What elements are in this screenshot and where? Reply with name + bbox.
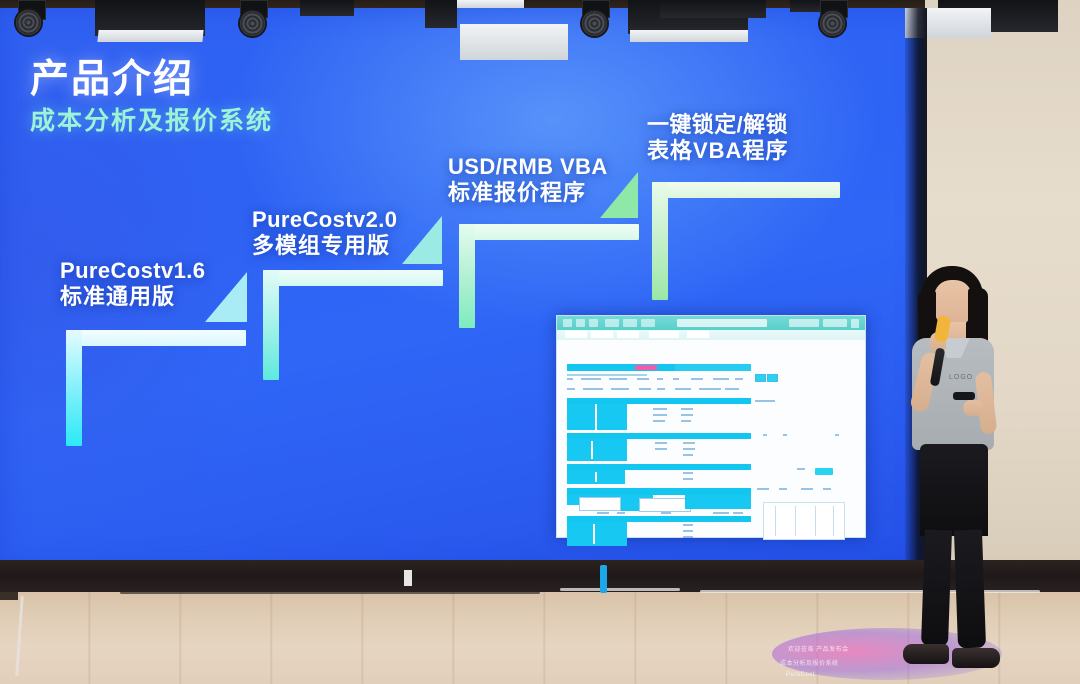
stage-light-lens-icon: [818, 9, 847, 38]
floor-cable: [700, 590, 1040, 593]
step-shape-1: [66, 330, 246, 446]
step-label-2-line1: PureCostv2.0: [252, 207, 397, 233]
step-shape-2: [263, 270, 443, 380]
step-arrow-1: [205, 272, 247, 322]
spreadsheet-toolbar: [557, 330, 865, 340]
presenter-clicker: [953, 392, 975, 400]
step-arrow-2: [402, 216, 442, 264]
step-label-1-line1: PureCostv1.6: [60, 258, 205, 284]
shirt-logo: LOGO: [949, 374, 973, 381]
step-label-3-line2: 标准报价程序: [448, 180, 608, 206]
spreadsheet-screenshot: [556, 315, 866, 538]
step-label-4-line1: 一键锁定/解锁: [647, 112, 788, 138]
floor-cable: [120, 591, 540, 594]
stage-light-lens-icon: [238, 9, 267, 38]
step-label-1-line2: 标准通用版: [60, 284, 205, 310]
presentation-photo: 产品介绍 成本分析及报价系统 PureCostv1.6 标准通用版 PureCo…: [0, 0, 1080, 684]
step-label-2-line2: 多模组专用版: [252, 233, 397, 259]
presenter-jeans: [920, 444, 988, 536]
step-label-1: PureCostv1.6 标准通用版: [60, 258, 205, 310]
floor-cable: [560, 588, 680, 591]
stage-light-lens-icon: [580, 9, 609, 38]
slide-subtitle: 成本分析及报价系统: [30, 101, 273, 137]
presenter-shoe-left: [903, 644, 949, 664]
floor-projection-line-3: PureCost: [786, 672, 815, 678]
floor-object: [404, 570, 412, 586]
floor-projection-line-2: 成本分析及报价系统: [780, 658, 839, 667]
floor-projection-line-1: 欢迎莅临 产品发布会: [788, 644, 849, 653]
slide-title: 产品介绍: [30, 48, 194, 104]
presenter-shoe-right: [952, 648, 1000, 668]
floor-marker: [600, 565, 607, 593]
presenter-hand-right: [963, 400, 983, 416]
step-shape-4: [652, 182, 840, 300]
step-label-2: PureCostv2.0 多模组专用版: [252, 207, 397, 259]
step-label-4: 一键锁定/解锁 表格VBA程序: [647, 112, 788, 164]
stage-light-lens-icon: [14, 8, 43, 37]
step-label-4-line2: 表格VBA程序: [647, 138, 788, 164]
presenter-leg-right: [954, 530, 986, 649]
stand-base: [0, 592, 18, 600]
step-label-3: USD/RMB VBA 标准报价程序: [448, 154, 608, 206]
step-label-3-line1: USD/RMB VBA: [448, 154, 608, 180]
spreadsheet-ribbon: [557, 316, 865, 330]
presenter-leg-left: [921, 530, 952, 647]
step-shape-3: [459, 224, 639, 328]
